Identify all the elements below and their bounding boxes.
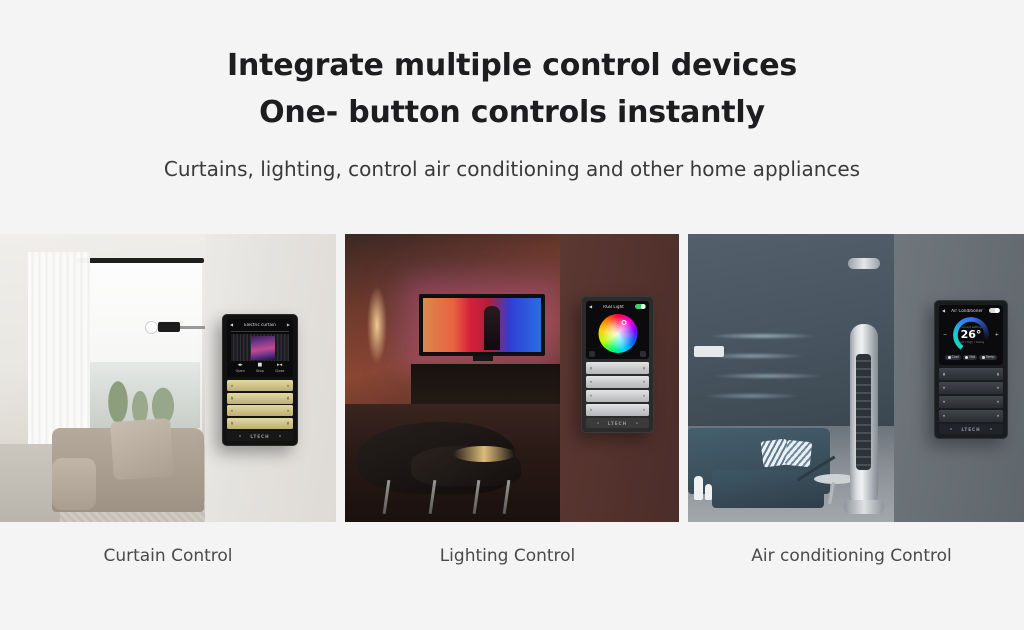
temp-icon (982, 356, 985, 359)
vase (705, 484, 712, 500)
stop-icon: ■ (256, 363, 264, 369)
curtain-open-label: Open (236, 369, 245, 373)
screen-titlebar: ◀ Electric curtain ▶ (227, 320, 293, 329)
mode-hot-button[interactable]: Hot (963, 355, 977, 360)
chevron-left-icon[interactable]: ◀ (942, 309, 945, 313)
promo-page: Integrate multiple control devices One- … (0, 0, 1024, 630)
gauge-mode-label: Cool / High / Swing (958, 341, 984, 344)
close-icon: ▸◂ (275, 363, 284, 369)
temperature-gauge[interactable]: Current setting 26° Cool / High / Swing … (939, 316, 1003, 354)
tv-stand (473, 356, 493, 361)
page-subtitle: Curtains, lighting, control air conditio… (0, 157, 1024, 181)
rocker-key[interactable] (939, 410, 1003, 422)
brightness-up-button[interactable] (640, 351, 646, 357)
air-conditioner-vent (856, 354, 871, 470)
television (419, 294, 545, 356)
feature-panel-lighting[interactable]: ◀ RGB Light (345, 234, 679, 522)
rocker-key[interactable] (939, 382, 1003, 394)
power-toggle[interactable] (989, 308, 1000, 314)
feature-panel-row: ◀ Electric curtain ▶ ◂▸ Open ■ (0, 234, 1024, 522)
mode-hot-label: Hot (969, 356, 975, 359)
brand-dot-icon (950, 428, 952, 430)
brand-dot-icon (279, 435, 281, 437)
rocker-key-group (939, 368, 1003, 422)
rocker-key[interactable] (586, 362, 649, 374)
lighting-control-device[interactable]: ◀ RGB Light (581, 296, 654, 433)
curtain-controls: ◂▸ Open ■ Stop ▸◂ Close (227, 361, 293, 373)
rocker-key-group (227, 380, 293, 429)
brand-name: LTECH (961, 427, 980, 432)
caption-curtain-control: Curtain Control (0, 546, 336, 566)
cool-icon (948, 356, 951, 359)
curtain-close-button[interactable]: ▸◂ Close (275, 363, 284, 373)
curtain-rail (76, 258, 204, 263)
color-wheel[interactable] (598, 314, 637, 353)
open-icon: ◂▸ (236, 363, 245, 369)
gold-light-accent (453, 446, 515, 462)
mode-cool-button[interactable]: Cool (945, 355, 961, 360)
brand-dot-icon (239, 435, 241, 437)
cushion (110, 418, 174, 480)
mode-temp-button[interactable]: Temp (979, 355, 996, 360)
rocker-key[interactable] (227, 393, 293, 404)
rocker-key[interactable] (586, 404, 649, 416)
temperature-increase-button[interactable]: + (995, 333, 999, 338)
rocker-key[interactable] (586, 390, 649, 402)
brand-dot-icon (597, 422, 599, 424)
chevron-left-icon[interactable]: ◀ (230, 323, 233, 327)
panel-caption-row: Curtain Control Lighting Control Air con… (0, 546, 1024, 566)
gauge-center: Current setting 26° Cool / High / Swing (953, 317, 989, 353)
vase (694, 476, 703, 500)
curtain-close-label: Close (275, 369, 284, 373)
screen-title: Air Conditioner (947, 309, 987, 313)
page-title-line-2: One- button controls instantly (0, 89, 1024, 136)
brand-dot-icon (636, 422, 638, 424)
brand-dot-icon (990, 428, 992, 430)
pillow (785, 440, 812, 467)
device-brand: LTECH (227, 431, 293, 441)
power-toggle[interactable] (635, 304, 646, 310)
device-brand: LTECH (939, 424, 1003, 434)
mode-button-group: Cool Hot Temp (939, 354, 1003, 360)
device-brand: LTECH (586, 418, 649, 428)
mode-cool-label: Cool (952, 356, 959, 359)
mode-temp-label: Temp (986, 356, 995, 359)
caption-lighting-control: Lighting Control (336, 546, 679, 566)
screen-titlebar: ◀ Air Conditioner (939, 306, 1003, 315)
device-screen[interactable]: ◀ RGB Light (586, 301, 649, 359)
rocker-key-group (586, 362, 649, 416)
rocker-key[interactable] (586, 376, 649, 388)
device-screen[interactable]: ◀ Air Conditioner Current setting 26° Co… (939, 305, 1003, 365)
curtain-motor-knob (145, 321, 158, 334)
curtain-window-preview (251, 336, 275, 360)
rocker-key[interactable] (939, 396, 1003, 408)
screen-title: RGB Light (594, 305, 633, 309)
wall-lamp-glow (367, 286, 387, 364)
chevron-left-icon[interactable]: ◀ (589, 305, 592, 309)
tv-figure (484, 306, 500, 350)
airflow-streams (702, 326, 858, 418)
sofa-arm (52, 458, 96, 510)
color-picker[interactable] (586, 312, 649, 358)
curtain-open-button[interactable]: ◂▸ Open (236, 363, 245, 373)
rocker-key[interactable] (227, 380, 293, 391)
screen-title: Electric curtain (235, 323, 285, 327)
curtain-illustration (231, 331, 289, 361)
brightness-down-button[interactable] (589, 351, 595, 357)
curtain-motor-body (158, 322, 180, 332)
heat-icon (965, 356, 968, 359)
temperature-decrease-button[interactable]: − (943, 333, 947, 338)
air-conditioning-control-device[interactable]: ◀ Air Conditioner Current setting 26° Co… (934, 300, 1008, 439)
tv-screen-content (423, 298, 541, 352)
brand-name: LTECH (608, 421, 627, 426)
feature-panel-curtain[interactable]: ◀ Electric curtain ▶ ◂▸ Open ■ (0, 234, 336, 522)
outdoor-trees (88, 362, 200, 428)
curtain-control-device[interactable]: ◀ Electric curtain ▶ ◂▸ Open ■ (222, 314, 298, 446)
air-conditioner-top (848, 258, 880, 269)
media-cabinet (411, 364, 560, 406)
caption-air-conditioning-control: Air conditioning Control (679, 546, 1024, 566)
air-conditioner-base (844, 500, 884, 514)
feature-panel-air-conditioning[interactable]: ◀ Air Conditioner Current setting 26° Co… (688, 234, 1024, 522)
hero-headings: Integrate multiple control devices One- … (0, 0, 1024, 181)
rocker-key[interactable] (227, 418, 293, 429)
curtain-stop-button[interactable]: ■ Stop (256, 363, 264, 373)
chevron-right-icon[interactable]: ▶ (287, 322, 290, 327)
curtain-stop-label: Stop (256, 369, 264, 373)
screen-titlebar: ◀ RGB Light (586, 302, 649, 311)
page-title-line-1: Integrate multiple control devices (0, 42, 1024, 89)
rocker-key[interactable] (939, 368, 1003, 380)
rocker-key[interactable] (227, 405, 293, 416)
device-screen[interactable]: ◀ Electric curtain ▶ ◂▸ Open ■ (227, 319, 293, 377)
color-selector-handle[interactable] (622, 320, 627, 325)
brand-name: LTECH (250, 434, 269, 439)
